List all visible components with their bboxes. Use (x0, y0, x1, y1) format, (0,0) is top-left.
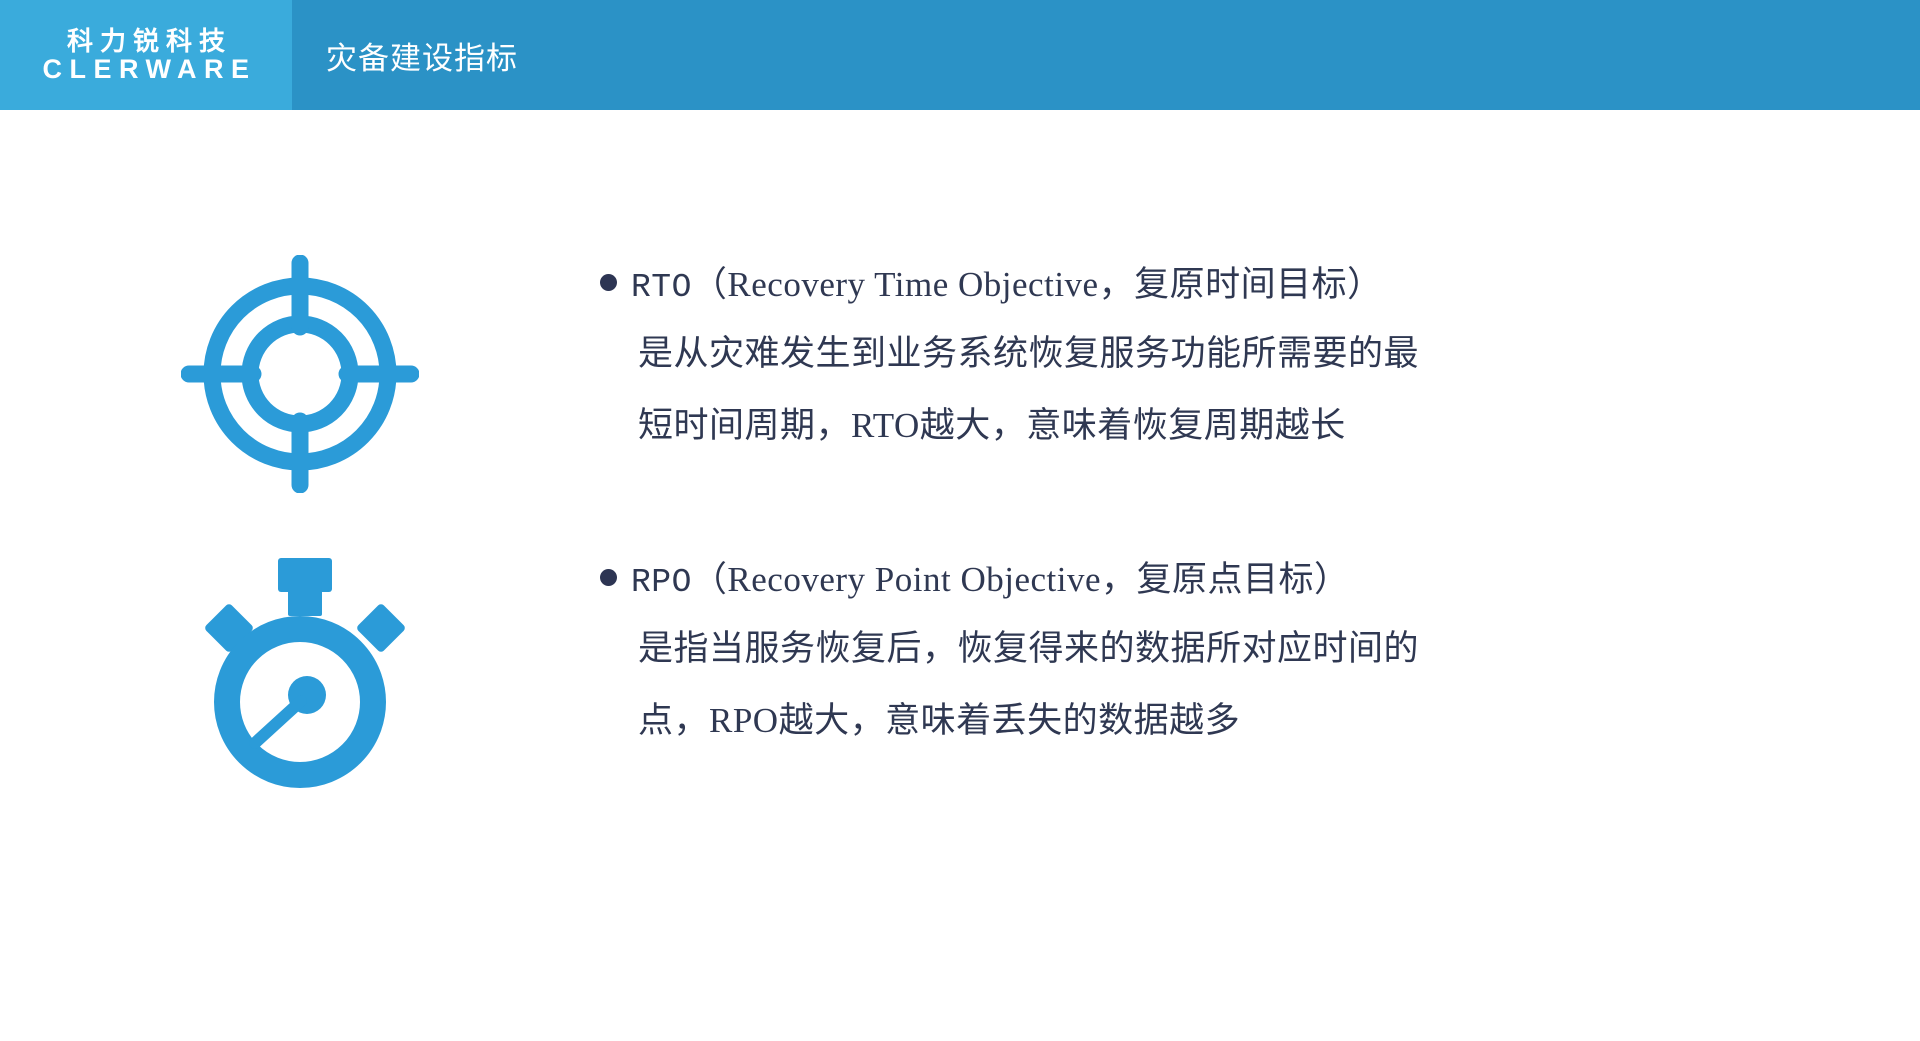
rto-text-cell: RTO（Recovery Time Objective，复原时间目标） 是从灾难… (600, 255, 1920, 462)
rto-definition: （Recovery Time Objective，复原时间目标） (692, 265, 1383, 304)
rto-line-2: 是从灾难发生到业务系统恢复服务功能所需要的最 (600, 318, 1850, 390)
target-crosshair-icon (181, 255, 419, 493)
rto-icon-cell (0, 255, 600, 493)
page-title: 灾备建设指标 (326, 33, 518, 78)
rto-line-3: 短时间周期，RTO越大，意味着恢复周期越长 (600, 390, 1850, 462)
brand-name-en: CLERWARE (35, 55, 256, 84)
rto-headline: RTO（Recovery Time Objective，复原时间目标） (600, 255, 1850, 318)
header-title-bar: 灾备建设指标 (292, 0, 1920, 110)
rto-term: RTO (631, 269, 692, 306)
rpo-icon-cell (0, 550, 600, 788)
slide-header: 科力锐科技 CLERWARE 灾备建设指标 (0, 0, 1920, 110)
bullet-dot-icon (600, 569, 617, 586)
content-row-rto: RTO（Recovery Time Objective，复原时间目标） 是从灾难… (0, 255, 1920, 493)
rpo-text-cell: RPO（Recovery Point Objective，复原点目标） 是指当服… (600, 550, 1920, 757)
rpo-headline-text: RPO（Recovery Point Objective，复原点目标） (631, 550, 1350, 613)
slide-content: RTO（Recovery Time Objective，复原时间目标） 是从灾难… (0, 110, 1920, 1041)
rpo-line-3: 点，RPO越大，意味着丢失的数据越多 (600, 685, 1850, 757)
stopwatch-icon (181, 550, 419, 788)
slide-root: 科力锐科技 CLERWARE 灾备建设指标 (0, 0, 1920, 1041)
rpo-headline: RPO（Recovery Point Objective，复原点目标） (600, 550, 1850, 613)
brand-name-cn: 科力锐科技 (60, 27, 232, 55)
rpo-line-2: 是指当服务恢复后，恢复得来的数据所对应时间的 (600, 613, 1850, 685)
content-row-rpo: RPO（Recovery Point Objective，复原点目标） 是指当服… (0, 550, 1920, 788)
bullet-dot-icon (600, 274, 617, 291)
rpo-term: RPO (631, 564, 692, 601)
rpo-definition: （Recovery Point Objective，复原点目标） (692, 560, 1350, 599)
rto-headline-text: RTO（Recovery Time Objective，复原时间目标） (631, 255, 1383, 318)
brand-logo: 科力锐科技 CLERWARE (0, 0, 292, 110)
